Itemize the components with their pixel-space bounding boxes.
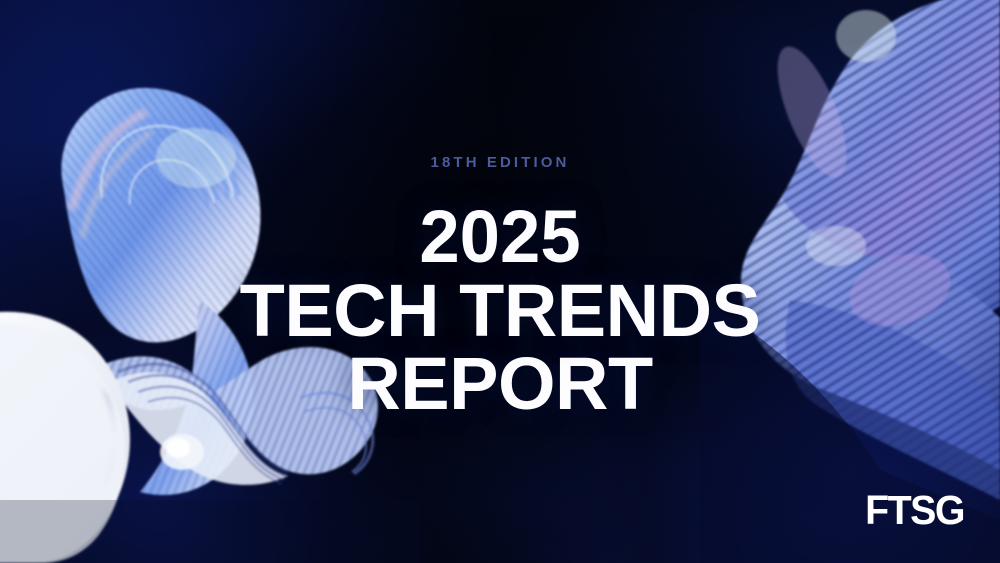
page-title: 2025 TECH TRENDS REPORT — [0, 200, 1000, 421]
title-line-report: REPORT — [0, 347, 1000, 421]
title-block: 18TH EDITION 2025 TECH TRENDS REPORT — [0, 155, 1000, 421]
title-line-tech-trends: TECH TRENDS — [0, 274, 1000, 348]
edition-label: 18TH EDITION — [0, 155, 1000, 170]
report-cover: 18TH EDITION 2025 TECH TRENDS REPORT FTS… — [0, 0, 1000, 563]
title-line-year: 2025 — [10, 200, 990, 274]
ftsg-logo[interactable]: FTSG — [865, 490, 964, 531]
